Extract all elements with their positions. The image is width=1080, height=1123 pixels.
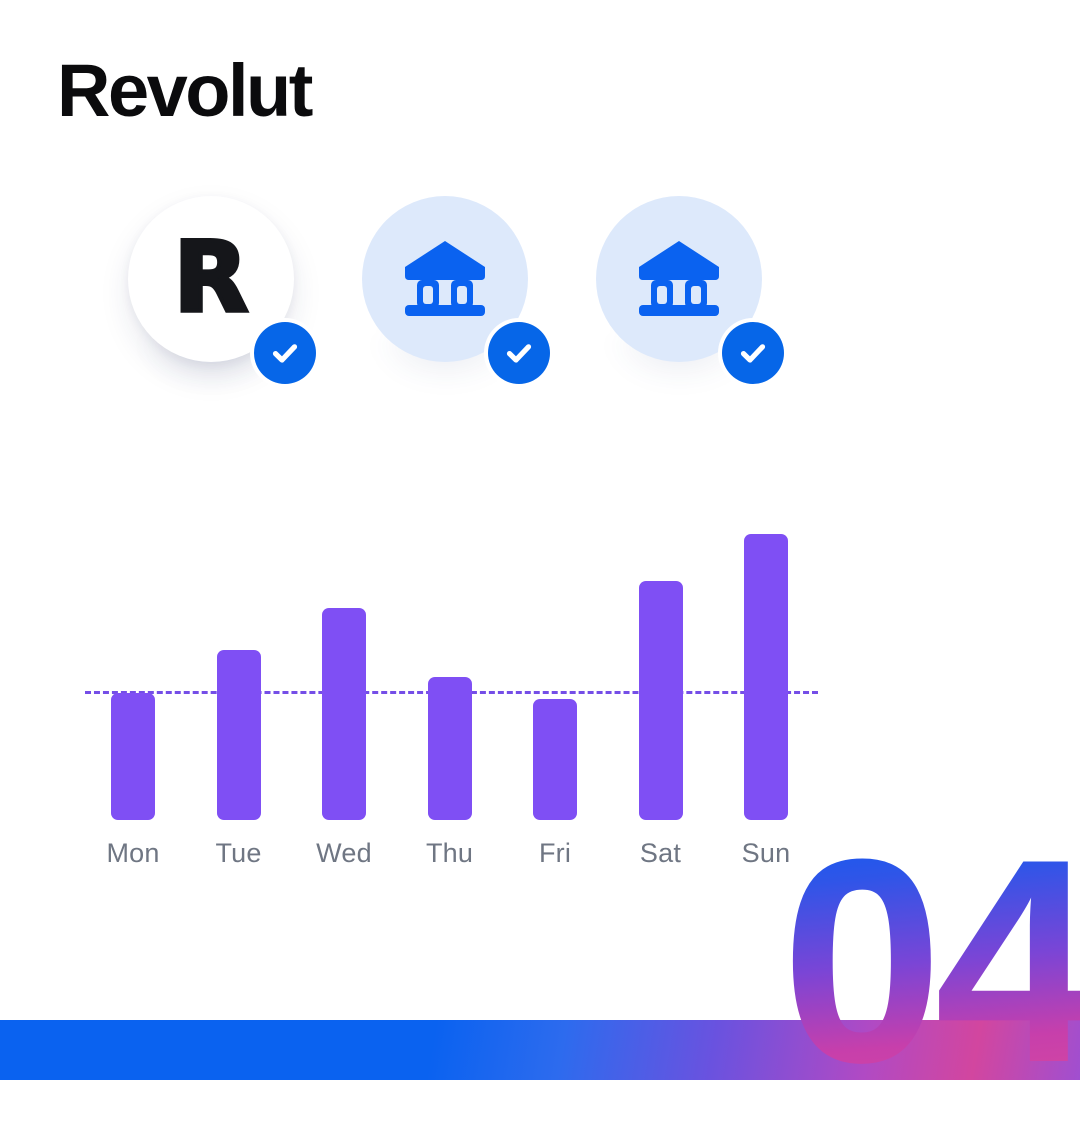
chart-plot-area xyxy=(85,520,830,820)
brand-wordmark: Revolut xyxy=(57,54,311,128)
chart-bar xyxy=(744,534,788,820)
verified-badge xyxy=(250,318,320,388)
check-icon xyxy=(267,335,303,371)
chart-bar xyxy=(533,699,577,820)
chart-bar xyxy=(217,650,261,820)
day-label: Wed xyxy=(294,838,394,869)
day-label: Thu xyxy=(400,838,500,869)
revolut-r-icon: R xyxy=(174,229,249,326)
verified-badge xyxy=(718,318,788,388)
verified-accounts-row: R xyxy=(0,196,1080,396)
chart-bar xyxy=(322,608,366,820)
account-card-bank-1[interactable] xyxy=(362,196,542,376)
chart-bar xyxy=(428,677,472,820)
bank-icon xyxy=(633,233,725,325)
check-icon xyxy=(501,335,537,371)
day-label: Fri xyxy=(505,838,605,869)
bank-icon xyxy=(399,233,491,325)
day-label: Sat xyxy=(611,838,711,869)
chart-x-axis-labels: MonTueWedThuFriSatSun xyxy=(85,838,830,878)
chart-bar xyxy=(639,581,683,820)
slide-number: 04 xyxy=(781,816,1080,1106)
check-icon xyxy=(735,335,771,371)
account-card-bank-2[interactable] xyxy=(596,196,776,376)
account-card-revolut[interactable]: R xyxy=(128,196,308,376)
chart-bar xyxy=(111,693,155,820)
verified-badge xyxy=(484,318,554,388)
day-label: Mon xyxy=(83,838,183,869)
day-label: Tue xyxy=(189,838,289,869)
